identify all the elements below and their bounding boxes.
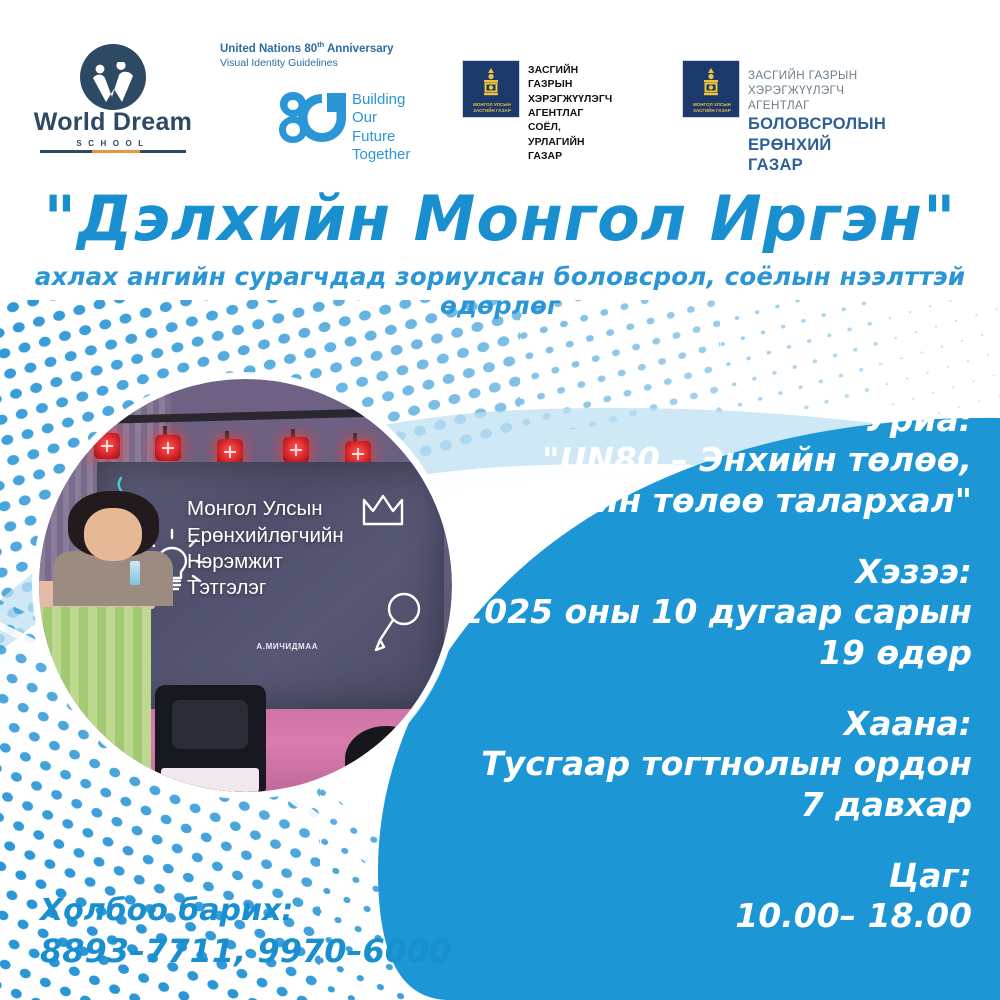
un80-subheading: Visual Identity Guidelines — [220, 57, 420, 70]
speaker-person — [68, 491, 159, 598]
wds-school-text: SCHOOL — [40, 139, 186, 148]
gov2-line1: ЗАСГИЙН ГАЗРЫН ХЭРЭГЖҮҮЛЭГЧ АГЕНТЛАГ — [748, 68, 886, 113]
slogan-label: Уриа: — [432, 402, 972, 439]
un80-tagline-2: Our Future — [352, 109, 420, 146]
gov-logo-education-text: ЗАСГИЙН ГАЗРЫН ХЭРЭГЖҮҮЛЭГЧ АГЕНТЛАГ БОЛ… — [748, 68, 886, 176]
screen-author: А.МИЧИДМАА — [256, 642, 318, 651]
un80-tagline: Building Our Future Together — [352, 91, 420, 164]
contact-numbers[interactable]: 8893–7711, 9970–6000 — [40, 931, 452, 971]
screen-line-4: Тэтгэлэг — [187, 575, 437, 601]
mongolia-emblem-icon: МОНГОЛ УЛСЫН ЗАСГИЙН ГАЗАР — [462, 60, 520, 118]
floor-speaker — [345, 726, 428, 792]
podium-body — [39, 607, 151, 792]
un80-tagline-1: Building — [352, 91, 420, 109]
screen-line-3: Нэрэмжит — [187, 549, 437, 575]
contact-block: Холбоо барих: 8893–7711, 9970–6000 — [40, 892, 452, 971]
gov1-line3: СОЁЛ, УРЛАГИЙН ГАЗАР — [528, 121, 612, 164]
event-photo: Монгол Улсын Ерөнхийлөгчийн Нэрэмжит Тэт… — [33, 373, 458, 798]
emblem-caption: МОНГОЛ УЛСЫН ЗАСГИЙН ГАЗАР — [463, 102, 521, 113]
world-dream-school-logo: World Dream SCHOOL — [18, 44, 208, 154]
wds-subbar: SCHOOL — [40, 140, 186, 152]
emblem2-caption-2: ЗАСГИЙН ГАЗАР — [683, 108, 741, 114]
un80-tagline-3: Together — [352, 146, 420, 164]
moving-head-base — [161, 768, 259, 792]
wds-color-bar — [40, 150, 186, 153]
slogan-line-1: "UN80 – Энхийн төлөө, — [432, 440, 972, 480]
page-title: "Дэлхийн Монгол Иргэн" — [0, 188, 1000, 250]
moving-head-light — [155, 685, 267, 792]
stage-lamp-1 — [94, 433, 120, 459]
mongolia-emblem-icon-2: МОНГОЛ УЛСЫН ЗАСГИЙН ГАЗАР — [682, 60, 740, 118]
info-block-when: Хэзээ: 2025 оны 10 дугаар сарын 19 өдөр — [432, 554, 972, 672]
wds-figures-icon — [92, 62, 136, 102]
gov2-line2: БОЛОВСРОЛЫН ЕРӨНХИЙ ГАЗАР — [748, 114, 886, 176]
header: World Dream SCHOOL United Nations 80th A… — [0, 0, 1000, 170]
un80-logo-block: United Nations 80th Anniversary Visual I… — [220, 40, 420, 160]
soyombo-icon — [480, 68, 502, 102]
screen-line-1: Монгол Улсын — [187, 496, 437, 522]
info-block-slogan: Уриа: "UN80 – Энхийн төлөө, Ирээдүйн төл… — [432, 402, 972, 520]
when-line-2: 19 өдөр — [432, 633, 972, 673]
poster-root: World Dream SCHOOL United Nations 80th A… — [0, 0, 1000, 1000]
where-line-2: 7 давхар — [432, 785, 972, 825]
gov1-line1: ЗАСГИЙН ГАЗРЫН — [528, 64, 612, 93]
when-label: Хэзээ: — [432, 554, 972, 591]
stage-lamp-2 — [155, 435, 181, 461]
soyombo-icon-2 — [700, 68, 722, 102]
emblem-caption-2: ЗАСГИЙН ГАЗАР — [463, 108, 521, 114]
info-block-where: Хаана: Тусгаар тогтнолын ордон 7 давхар — [432, 706, 972, 824]
moving-head-lens — [172, 700, 248, 749]
info-block-time: Цаг: 10.00– 18.00 — [432, 858, 972, 936]
water-bottle — [130, 561, 140, 585]
stage-lamp-4 — [283, 437, 309, 463]
gov1-line2: ХЭРЭГЖҮҮЛЭГЧ АГЕНТЛАГ — [528, 93, 612, 122]
where-line-1: Тусгаар тогтнолын ордон — [432, 744, 972, 784]
when-line-1: 2025 оны 10 дугаар сарын — [432, 592, 972, 632]
slogan-line-2: Ирээдүйн төлөө талархал" — [432, 481, 972, 521]
un80-mark: Building Our Future Together — [270, 90, 420, 150]
podium — [39, 581, 155, 792]
un80-heading-tail: Anniversary — [324, 43, 393, 55]
wds-name: World Dream — [18, 110, 208, 135]
time-line-1: 10.00– 18.00 — [432, 896, 972, 936]
contact-label: Холбоо барих: — [40, 892, 452, 930]
event-photo-inner: Монгол Улсын Ерөнхийлөгчийн Нэрэмжит Тэт… — [39, 379, 452, 792]
screen-text: Монгол Улсын Ерөнхийлөгчийн Нэрэмжит Тэт… — [187, 496, 437, 601]
un80-numeral-icon — [270, 90, 350, 144]
where-label: Хаана: — [432, 706, 972, 743]
un80-heading-main: United Nations 80 — [220, 43, 317, 55]
gov-logo-culture-text: ЗАСГИЙН ГАЗРЫН ХЭРЭГЖҮҮЛЭГЧ АГЕНТЛАГ СОЁ… — [528, 64, 612, 165]
un80-heading: United Nations 80th Anniversary — [220, 40, 420, 56]
time-label: Цаг: — [432, 858, 972, 895]
event-info-panel: Уриа: "UN80 – Энхийн төлөө, Ирээдүйн төл… — [432, 402, 972, 936]
page-subtitle: ахлах ангийн сурагчдад зориулсан боловср… — [0, 262, 1000, 320]
screen-line-2: Ерөнхийлөгчийн — [187, 523, 437, 549]
emblem-caption-2-wrap: МОНГОЛ УЛСЫН ЗАСГИЙН ГАЗАР — [683, 102, 741, 113]
speaker-face — [84, 508, 142, 562]
